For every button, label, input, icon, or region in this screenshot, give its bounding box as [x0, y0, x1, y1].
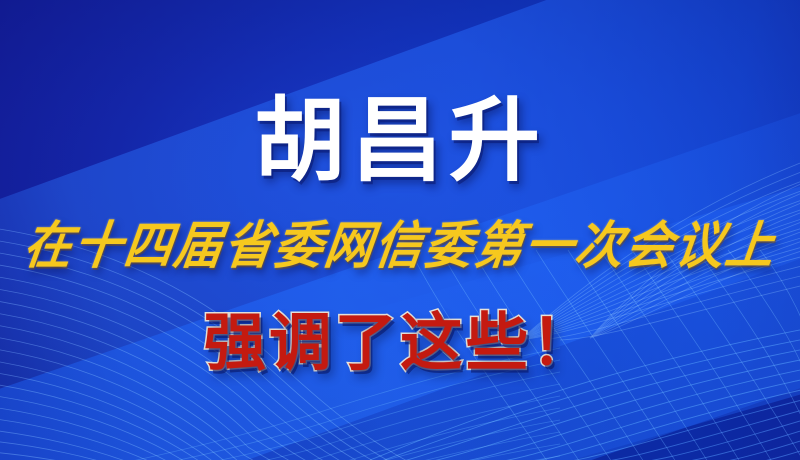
- headline-stack: 胡昌升 在十四届省委网信委第一次会议上 强调了这些！: [0, 0, 800, 460]
- punchline-row: 强调了这些！: [0, 312, 800, 375]
- headline-person-name: 胡昌升: [0, 96, 800, 187]
- punchline-emphasis: 强调了这些！: [203, 312, 596, 375]
- subheadline-calligraphy: 在十四届省委网信委第一次会议上: [21, 221, 779, 272]
- subheadline-row: 在十四届省委网信委第一次会议上: [0, 222, 800, 270]
- poster-banner: 胡昌升 在十四届省委网信委第一次会议上 强调了这些！: [0, 0, 800, 460]
